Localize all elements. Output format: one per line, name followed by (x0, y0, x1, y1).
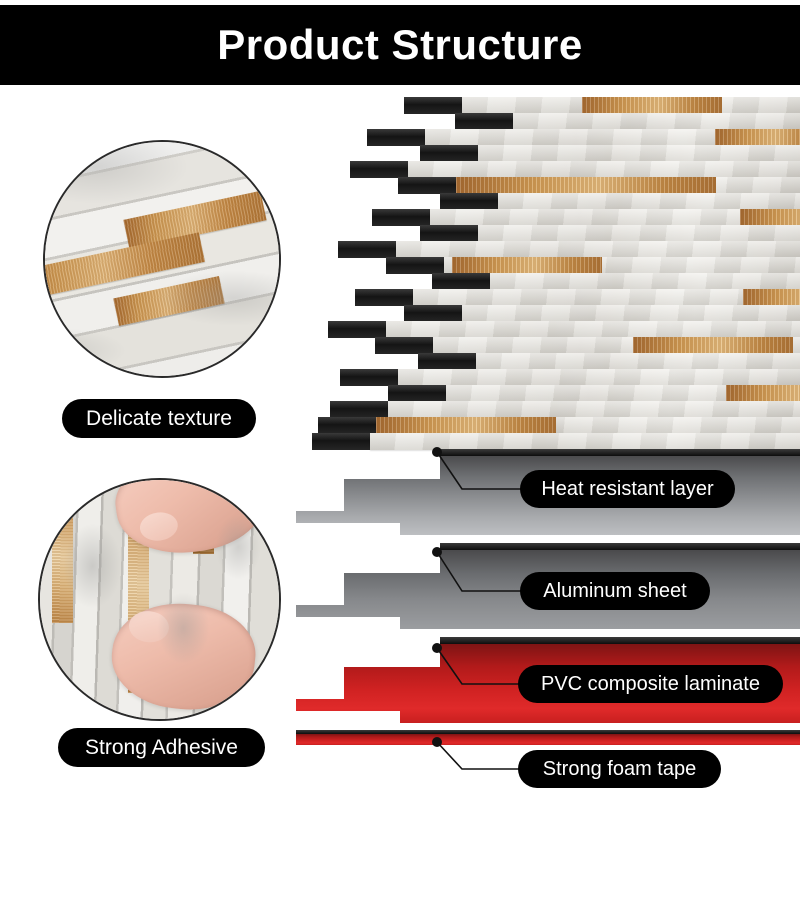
tile-plank (420, 225, 800, 242)
plank-edge (455, 113, 517, 130)
tile-plank (375, 337, 800, 354)
copper-accent (633, 337, 793, 354)
copper-accent (456, 177, 716, 194)
plank-face (498, 193, 800, 210)
plank-face (456, 177, 800, 194)
plank-edge (375, 337, 437, 354)
plank-face (444, 257, 800, 274)
plank-edge (312, 433, 374, 450)
copper-accent (452, 257, 602, 274)
tile-plank (355, 289, 800, 306)
plank-face (478, 225, 800, 242)
tile-plank (312, 433, 800, 450)
plank-edge (386, 257, 448, 274)
copper-accent (740, 209, 800, 226)
plank-face (386, 321, 800, 338)
layer-top-edge (296, 449, 800, 456)
plank-edge (340, 369, 402, 386)
plank-edge (388, 385, 450, 402)
plank-edge (420, 145, 482, 162)
plank-face (478, 145, 800, 162)
plank-face (430, 209, 800, 226)
plank-edge (372, 209, 434, 226)
tile-plank (404, 305, 800, 322)
plank-edge (404, 305, 466, 322)
plank-edge (338, 241, 400, 258)
tile-plank (404, 97, 800, 114)
copper-accent (726, 385, 800, 402)
plank-face (425, 129, 800, 146)
plank-face (370, 433, 800, 450)
tile-plank (367, 129, 800, 146)
plank-face (398, 369, 800, 386)
tile-plank (420, 145, 800, 162)
tile-plank (398, 177, 800, 194)
plank-face (433, 337, 800, 354)
copper-accent (582, 97, 722, 114)
page-title: Product Structure (217, 21, 583, 69)
exploded-layer-stack (0, 85, 800, 765)
plank-edge (350, 161, 412, 178)
layer-body (296, 734, 800, 745)
callout-strong-foam-tape: Strong foam tape (518, 750, 721, 788)
plank-edge (420, 225, 482, 242)
tile-plank (440, 193, 800, 210)
plank-face (513, 113, 800, 130)
tile-plank (340, 369, 800, 386)
tile-plank (388, 385, 800, 402)
copper-accent (715, 129, 800, 146)
tile-plank (386, 257, 800, 274)
plank-face (476, 353, 800, 370)
tile-plank (455, 113, 800, 130)
tile-plank (338, 241, 800, 258)
callout-heat-resistant-layer: Heat resistant layer (520, 470, 735, 508)
tile-plank (330, 401, 800, 418)
plank-face (408, 161, 800, 178)
tile-plank (372, 209, 800, 226)
callout-pvc-composite-laminate: PVC composite laminate (518, 665, 783, 703)
tile-plank (318, 417, 800, 434)
plank-edge (440, 193, 502, 210)
plank-edge (432, 273, 494, 290)
plank-face (376, 417, 800, 434)
plank-edge (367, 129, 429, 146)
plank-face (446, 385, 800, 402)
callout-aluminum-sheet: Aluminum sheet (520, 572, 710, 610)
plank-edge (318, 417, 380, 434)
layer-top-edge (296, 543, 800, 550)
plank-face (396, 241, 800, 258)
plank-edge (404, 97, 466, 114)
tile-plank (350, 161, 800, 178)
layer-top-edge (296, 637, 800, 644)
plank-face (388, 401, 800, 418)
plank-face (490, 273, 800, 290)
tile-plank (418, 353, 800, 370)
copper-accent (376, 417, 556, 434)
copper-accent (743, 289, 800, 306)
tile-plank (328, 321, 800, 338)
plank-edge (398, 177, 460, 194)
plank-face (413, 289, 800, 306)
plank-edge (418, 353, 480, 370)
plank-edge (355, 289, 417, 306)
tile-plank (432, 273, 800, 290)
plank-face (462, 305, 800, 322)
plank-edge (330, 401, 392, 418)
title-banner: Product Structure (0, 5, 800, 85)
plank-edge (328, 321, 390, 338)
plank-face (462, 97, 800, 114)
layer-strong-foam-tape (296, 730, 800, 745)
